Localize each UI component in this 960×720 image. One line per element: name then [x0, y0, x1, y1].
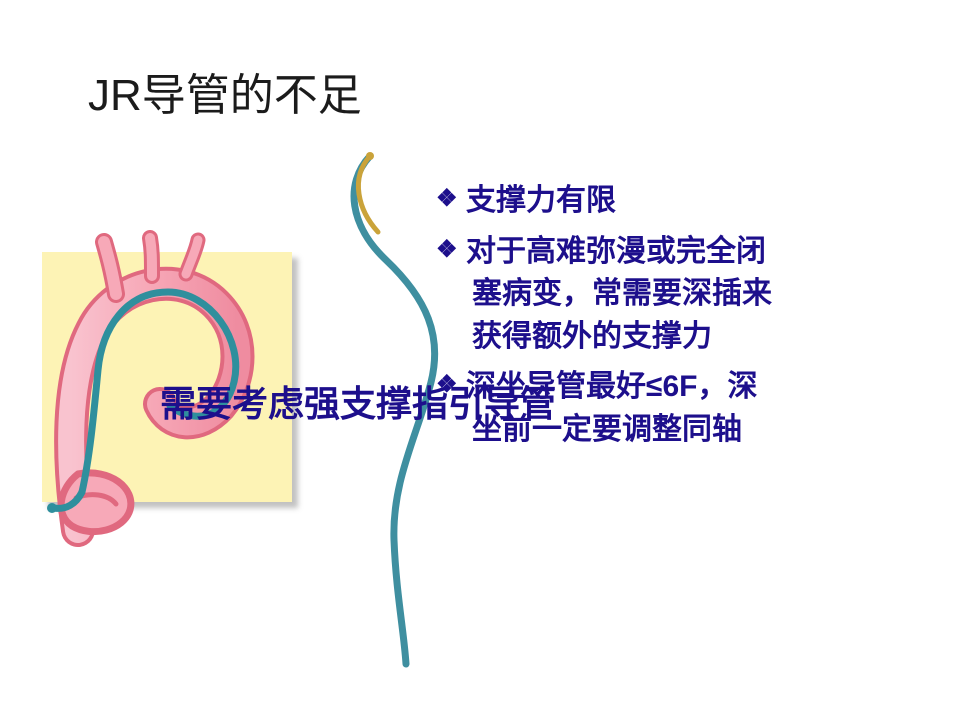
- bullet-text: 对于高难弥漫或完全闭 塞病变，常需要深插来 获得额外的支撑力: [466, 231, 946, 359]
- page-title: JR导管的不足: [88, 72, 362, 120]
- overlay-emphasis-text: 需要考虑强支撑指引导管: [160, 375, 840, 427]
- diamond-bullet-icon: ❖: [436, 180, 466, 218]
- bullet-line: 对于高难弥漫或完全闭: [466, 231, 946, 274]
- bullet-text: 支撑力有限: [466, 180, 946, 223]
- list-item: ❖ 对于高难弥漫或完全闭 塞病变，常需要深插来 获得额外的支撑力: [436, 231, 946, 359]
- bullet-line: 获得额外的支撑力: [466, 316, 946, 359]
- bullet-line: 支撑力有限: [466, 180, 946, 223]
- slide-canvas: JR导管的不足: [0, 0, 960, 720]
- list-item: ❖ 支撑力有限: [436, 180, 946, 223]
- diamond-bullet-icon: ❖: [436, 231, 466, 269]
- bullet-line: 塞病变，常需要深插来: [466, 273, 946, 316]
